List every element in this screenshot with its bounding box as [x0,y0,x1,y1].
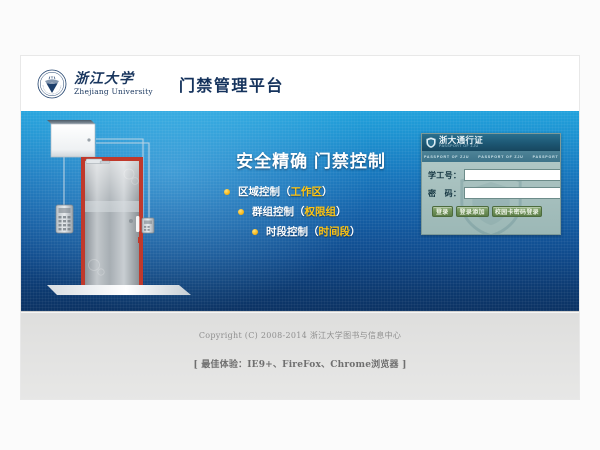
university-name-cn: 浙江大学 [74,72,153,86]
bullet-dot-icon [252,229,258,235]
student-staff-id-label: 学工号： [428,170,464,181]
feature-text: 时段控制（ [266,224,319,239]
controller-box [47,120,95,157]
banner-feature-item: 区域控制（ 工作区 ） [196,184,426,199]
feature-text-end: ） [322,184,333,199]
door [81,157,143,285]
login-panel-title-group: 浙大通行证 PASSPORT OF ZJU [439,136,483,149]
hero-banner: 安全精确 门禁控制 区域控制（ 工作区 ） 群组控制（ 权限组 ） 时段控制（ [21,111,579,311]
login-add-button[interactable]: 登录添加 [456,206,489,217]
passport-strip-text: PASSPORT OF ZJU [478,155,532,159]
zhejiang-university-emblem-icon [37,69,67,99]
login-form: 学工号： 密 码： 登录 登录添加 校园卡密码登录 [422,162,560,217]
banner-copy: 安全精确 门禁控制 区域控制（ 工作区 ） 群组控制（ 权限组 ） 时段控制（ [196,147,426,244]
login-panel-titlebar: 浙大通行证 PASSPORT OF ZJU [422,134,560,151]
bullet-dot-icon [238,209,244,215]
campus-card-password-login-button[interactable]: 校园卡密码登录 [492,206,542,217]
site-footer: Copyright (C) 2008-2014 浙江大学图书与信息中心 [ 最佳… [21,311,579,400]
login-panel: 浙大通行证 PASSPORT OF ZJU PASSPORT OF ZJU PA… [421,133,561,235]
field-row-password: 密 码： [428,187,554,199]
feature-emphasis: 工作区 [291,184,323,199]
card-reader [142,218,154,233]
field-row-student-staff-id: 学工号： [428,169,554,181]
feature-text-end: ） [336,204,347,219]
footer-highlight-line [21,312,579,313]
banner-feature-list: 区域控制（ 工作区 ） 群组控制（ 权限组 ） 时段控制（ 时间段 ） [196,184,426,239]
passport-watermark-strip: PASSPORT OF ZJU PASSPORT OF ZJU PASSPORT… [422,151,560,162]
banner-feature-item: 群组控制（ 权限组 ） [196,204,426,219]
keypad-reader [56,205,73,233]
login-panel-title-en: PASSPORT OF ZJU [439,145,483,149]
floor-plate [47,285,191,295]
password-input[interactable] [464,187,561,199]
door-access-control-illustration [39,113,214,308]
page-title: 门禁管理平台 [179,72,284,96]
university-name-group: 浙江大学 Zhejiang University [74,72,153,96]
university-logo-block[interactable]: 浙江大学 Zhejiang University [37,69,153,99]
shield-icon [426,137,436,148]
login-button-row: 登录 登录添加 校园卡密码登录 [428,205,554,217]
site-header: 浙江大学 Zhejiang University 门禁管理平台 [21,56,579,111]
banner-feature-item: 时段控制（ 时间段 ） [196,224,426,239]
feature-text: 群组控制（ [252,204,305,219]
university-name-en: Zhejiang University [74,88,153,96]
feature-emphasis: 权限组 [305,204,337,219]
passport-strip-text: PASSPORT OF ZJU [424,155,478,159]
browser-recommendation-text: [ 最佳体验：IE9+、FireFox、Chrome浏览器 ] [21,357,579,370]
banner-headline: 安全精确 门禁控制 [196,147,426,172]
student-staff-id-input[interactable] [464,169,561,181]
login-button[interactable]: 登录 [432,206,453,217]
page-card: 浙江大学 Zhejiang University 门禁管理平台 [20,55,580,400]
copyright-text: Copyright (C) 2008-2014 浙江大学图书与信息中心 [21,330,579,341]
passport-strip-text: PASSPORT OF ZJU [533,155,560,159]
bullet-dot-icon [224,189,230,195]
footer-content: Copyright (C) 2008-2014 浙江大学图书与信息中心 [ 最佳… [21,312,579,370]
feature-text-end: ） [350,224,361,239]
feature-emphasis: 时间段 [319,224,351,239]
login-panel-title-cn: 浙大通行证 [439,136,483,145]
feature-text: 区域控制（ [238,184,291,199]
password-label: 密 码： [428,188,464,199]
door-handle [136,216,139,232]
